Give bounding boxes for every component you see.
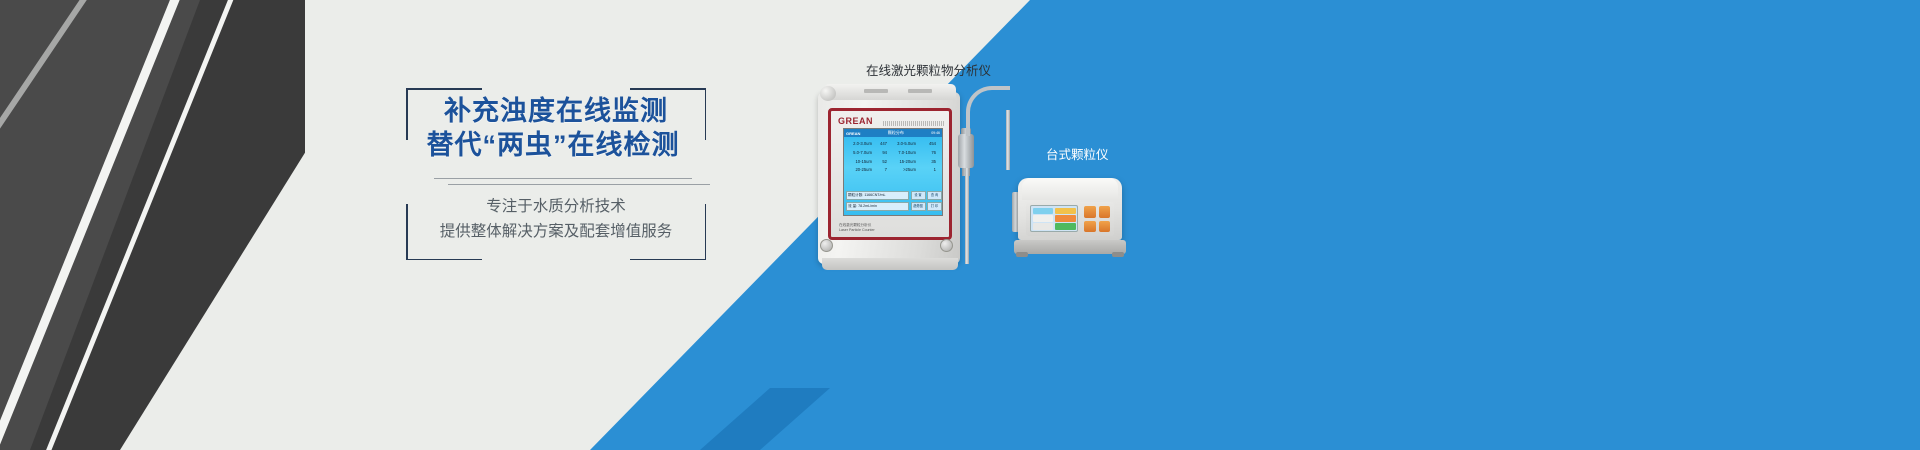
headline-block: 补充浊度在线监测 替代“两虫”在线检测 专注于水质分析技术 提供整体解决方案及配… bbox=[406, 88, 706, 260]
keypad-key[interactable] bbox=[1099, 206, 1111, 218]
keypad-key[interactable] bbox=[1099, 221, 1111, 233]
analyzer-knob bbox=[820, 86, 836, 101]
footer-button[interactable]: 打 印 bbox=[927, 202, 942, 211]
analyzer-bottom-cover bbox=[822, 258, 958, 270]
display-footer: 颗粒计数: 1166CNT/mL 设 置 查 询 流 量: 78.2mL/min… bbox=[846, 191, 942, 212]
counter-control-panel bbox=[1026, 202, 1114, 236]
cell-range-a: 20-25um bbox=[846, 166, 872, 175]
counter-enclosure bbox=[1018, 178, 1122, 240]
valve-body bbox=[958, 134, 974, 168]
footer-readout: 颗粒计数: 1166CNT/mL bbox=[846, 191, 909, 200]
cell-range-a: 2.0-3.0um bbox=[846, 140, 872, 149]
cell-range-b: 15-20um bbox=[890, 158, 916, 167]
cell-count-b: 76 bbox=[916, 149, 936, 158]
display-footer-row: 流 量: 78.2mL/min 趋势图 打 印 bbox=[846, 202, 942, 211]
counter-display bbox=[1030, 205, 1078, 232]
headline-line-1: 补充浊度在线监测 bbox=[406, 94, 706, 128]
sample-tube-down bbox=[1006, 110, 1010, 170]
keypad-key[interactable] bbox=[1084, 206, 1096, 218]
analyzer-top-cover bbox=[824, 84, 956, 100]
display-data-row: 20-25um 7 >25um 1 bbox=[846, 166, 942, 175]
online-laser-particle-analyzer: GREAN GREAN 颗粒分布 09:46 2.0-3.0um 447 3.0… bbox=[812, 82, 970, 272]
frame-corner-bottom-left-horizontal bbox=[406, 259, 482, 261]
cell-range-a: 10-15um bbox=[846, 158, 872, 167]
display-cell bbox=[1033, 223, 1054, 229]
cell-count-b: 35 bbox=[916, 158, 936, 167]
counter-base bbox=[1014, 240, 1126, 254]
cell-count-b: 1 bbox=[916, 166, 936, 175]
counter-keypad[interactable] bbox=[1084, 206, 1110, 232]
cell-count-b: 454 bbox=[916, 140, 936, 149]
counter-foot-left bbox=[1016, 252, 1028, 257]
analyzer-display: GREAN 颗粒分布 09:46 2.0-3.0um 447 3.0-5.0um… bbox=[843, 128, 943, 216]
label-desktop-counter: 台式颗粒仪 bbox=[1046, 144, 1109, 163]
display-data-row: 2.0-3.0um 447 3.0-5.0um 454 bbox=[846, 140, 942, 149]
analyzer-front-panel: GREAN GREAN 颗粒分布 09:46 2.0-3.0um 447 3.0… bbox=[828, 108, 952, 240]
display-data-table: 2.0-3.0um 447 3.0-5.0um 454 5.0-7.0um 94… bbox=[846, 140, 942, 175]
headline-line-2: 替代“两虫”在线检测 bbox=[400, 128, 706, 162]
display-titlebar: GREAN 颗粒分布 09:46 bbox=[844, 129, 942, 137]
footer-button[interactable]: 趋势图 bbox=[911, 202, 926, 211]
analyzer-vent-1 bbox=[864, 89, 888, 93]
display-cell bbox=[1033, 215, 1054, 221]
display-cell bbox=[1055, 223, 1076, 229]
display-cell bbox=[1055, 208, 1076, 214]
divider-line-1 bbox=[434, 178, 692, 179]
promo-banner: 补充浊度在线监测 替代“两虫”在线检测 专注于水质分析技术 提供整体解决方案及配… bbox=[0, 0, 1920, 450]
display-cell bbox=[1055, 215, 1076, 221]
cell-count-a: 52 bbox=[872, 158, 890, 167]
divider-group bbox=[420, 178, 692, 185]
cell-count-a: 7 bbox=[872, 166, 890, 175]
display-titlebar-title: 颗粒分布 bbox=[888, 130, 904, 136]
footer-button[interactable]: 查 询 bbox=[927, 191, 942, 200]
cell-count-a: 94 bbox=[872, 149, 890, 158]
footer-button[interactable]: 设 置 bbox=[911, 191, 926, 200]
subtitle: 专注于水质分析技术 提供整体解决方案及配套增值服务 bbox=[406, 194, 706, 244]
frame-corner-top-right-horizontal bbox=[630, 88, 706, 90]
cell-range-a: 5.0-7.0um bbox=[846, 149, 872, 158]
counter-foot-right bbox=[1112, 252, 1124, 257]
analyzer-port-left bbox=[820, 239, 833, 252]
cell-count-a: 447 bbox=[872, 140, 890, 149]
frame-corner-top-left-horizontal bbox=[406, 88, 482, 90]
display-footer-row: 颗粒计数: 1166CNT/mL 设 置 查 询 bbox=[846, 191, 942, 200]
label-online-analyzer: 在线激光颗粒物分析仪 bbox=[866, 60, 991, 79]
keypad-key[interactable] bbox=[1084, 221, 1096, 233]
sample-tube bbox=[965, 168, 969, 264]
nameplate-english: Laser Particle Counter bbox=[839, 228, 875, 233]
analyzer-port-right bbox=[940, 239, 953, 252]
analyzer-brand-logo: GREAN bbox=[838, 116, 873, 126]
analyzer-vent-2 bbox=[908, 89, 932, 93]
cell-range-b: 3.0-5.0um bbox=[890, 140, 916, 149]
desktop-particle-counter bbox=[1018, 168, 1128, 254]
display-data-row: 5.0-7.0um 94 7.0-10um 76 bbox=[846, 149, 942, 158]
analyzer-brand-hatching bbox=[883, 121, 945, 126]
sample-tube-arc bbox=[966, 86, 1010, 136]
analyzer-nameplate: 在线激光颗粒分析仪 Laser Particle Counter bbox=[839, 223, 875, 233]
display-titlebar-clock: 09:46 bbox=[931, 131, 940, 135]
display-data-row: 10-15um 52 15-20um 35 bbox=[846, 158, 942, 167]
display-cell bbox=[1033, 208, 1054, 214]
headline: 补充浊度在线监测 替代“两虫”在线检测 bbox=[406, 94, 706, 162]
subtitle-line-1: 专注于水质分析技术 bbox=[406, 194, 706, 219]
counter-top-cover bbox=[1022, 178, 1118, 200]
cell-range-b: 7.0-10um bbox=[890, 149, 916, 158]
subtitle-line-2: 提供整体解决方案及配套增值服务 bbox=[406, 219, 706, 244]
footer-readout: 流 量: 78.2mL/min bbox=[846, 202, 909, 211]
divider-line-2 bbox=[448, 184, 710, 185]
frame-corner-bottom-right-horizontal bbox=[630, 259, 706, 261]
display-titlebar-brand: GREAN bbox=[846, 131, 860, 136]
cell-range-b: >25um bbox=[890, 166, 916, 175]
